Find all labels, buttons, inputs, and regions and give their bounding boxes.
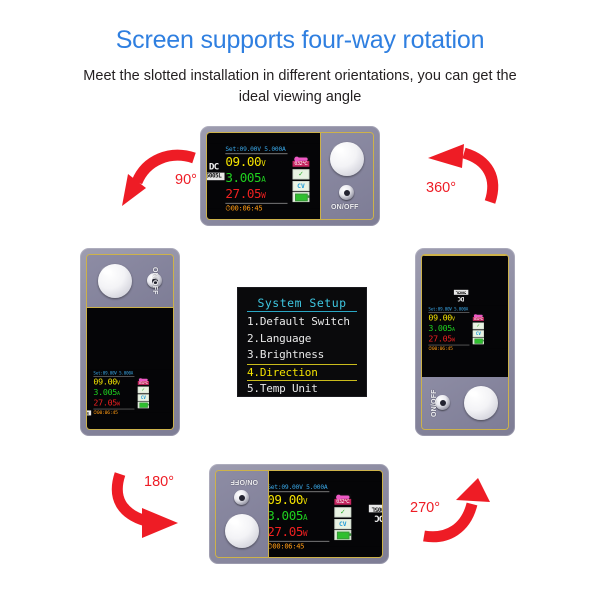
- power-value: 27.05: [269, 524, 303, 539]
- current-reading: 3.005A: [225, 171, 291, 187]
- device-logo: DC 5005L: [87, 410, 91, 422]
- check-icon: ✓: [334, 507, 351, 517]
- onoff-label: ON/OFF: [230, 478, 258, 485]
- cv-mode-icon: CV: [334, 519, 351, 529]
- current-value: 3.005: [93, 387, 117, 397]
- voltage-reading: 09.00V: [269, 493, 332, 509]
- page-subtitle: Meet the slotted installation in differe…: [70, 66, 530, 108]
- voltage-unit: V: [303, 498, 307, 506]
- device-left-screen-rotation: DC 5005L Set:09.00V 5.000A 09.00V: [88, 369, 172, 412]
- cv-mode-icon: CV: [473, 330, 484, 337]
- readout-panel: Set:09.00V 5.000A 09.00V 3.005A: [269, 483, 366, 545]
- rotation-arrow-360-label: 360°: [426, 180, 456, 196]
- readout-body: 09.00V 3.005A 27.05W ⏱00:06:45: [428, 313, 506, 352]
- readout: DC 5005L Set:09.00V 5.000A 09.00V: [269, 481, 382, 547]
- status-icon-column: 032℃ ✓ CV: [292, 155, 309, 214]
- timer-reading: ⏱00:06:45: [269, 543, 332, 552]
- power-reading: 27.05W: [225, 187, 291, 203]
- setpoint-text: Set:09.00V 5.000A: [269, 483, 366, 491]
- readout-body: 09.00V 3.005A 27.05W ⏱00:06:45: [225, 155, 320, 214]
- check-glyph: ✓: [298, 171, 303, 179]
- onoff-button[interactable]: [234, 490, 249, 505]
- device-logo: DC 5005L: [207, 162, 224, 180]
- logo-model: 5005L: [87, 410, 91, 415]
- logo-model: 5005L: [207, 173, 224, 181]
- device-bottom-screen: DC 5005L Set:09.00V 5.000A 09.00V: [269, 471, 382, 557]
- menu-item-brightness[interactable]: 3.Brightness: [247, 347, 357, 364]
- logo-model: 5005L: [454, 289, 468, 294]
- rotation-arrow-360: 360°: [420, 144, 500, 206]
- thermometer-icon: 032℃: [138, 377, 149, 385]
- timer-value: 00:06:45: [230, 205, 262, 213]
- timer-reading: ⏱00:06:45: [93, 409, 136, 415]
- readout-panel: Set:09.00V 5.000A 09.00V 3.005A: [225, 145, 320, 207]
- voltage-unit: V: [261, 160, 265, 168]
- onoff-label: ON/OFF: [151, 267, 158, 295]
- check-glyph: ✓: [142, 387, 145, 392]
- timer-value: 00:06:45: [272, 543, 304, 551]
- power-value: 27.05: [225, 186, 261, 201]
- current-value: 3.005: [428, 323, 452, 333]
- device-logo: DC 5005L: [368, 505, 382, 523]
- thermometer-glyph: [294, 158, 307, 161]
- voltage-unit: V: [452, 316, 455, 322]
- voltage-value: 09.00: [93, 376, 117, 386]
- device-right-knob-panel: ON/OFF: [422, 377, 508, 429]
- power-reading: 27.05W: [93, 398, 136, 409]
- device-right-inner: ON/OFF DC 5005L Set:09.00V 5.000A: [421, 254, 509, 430]
- check-icon: ✓: [473, 322, 484, 329]
- onoff-button[interactable]: [339, 185, 354, 200]
- battery-icon: [473, 337, 484, 344]
- device-logo: DC 5005L: [454, 289, 468, 301]
- rotation-arrow-270: 270°: [408, 478, 492, 542]
- status-icon-column: 032℃ ✓ CV: [138, 377, 149, 416]
- battery-icon: [292, 192, 309, 202]
- rotary-encoder-knob[interactable]: [225, 514, 259, 548]
- menu-item-language[interactable]: 2.Language: [247, 331, 357, 348]
- timer-reading: ⏱00:06:45: [225, 205, 291, 214]
- power-unit: W: [452, 337, 455, 343]
- cv-mode-icon: CV: [292, 181, 309, 191]
- device-left-inner: ON/OFF DC 5005L Set:09.00V 5.000A: [86, 254, 174, 430]
- current-reading: 3.005A: [93, 387, 136, 398]
- thermometer-glyph: [336, 496, 349, 499]
- cv-mode-label: CV: [476, 331, 481, 335]
- cv-mode-icon: CV: [138, 394, 149, 401]
- power-unit: W: [117, 401, 120, 407]
- current-value: 3.005: [269, 508, 303, 523]
- temperature-value: 032℃: [292, 161, 309, 167]
- device-left-knob-panel: ON/OFF: [87, 255, 173, 307]
- voltage-reading: 09.00V: [225, 155, 291, 171]
- rotation-arrow-180: 180°: [112, 468, 196, 530]
- power-unit: W: [261, 192, 265, 200]
- readout: DC 5005L Set:09.00V 5.000A 09.00V: [207, 143, 320, 209]
- device-top-screen-rotation: DC 5005L Set:09.00V 5.000A 09.00V: [207, 143, 320, 209]
- voltage-reading: 09.00V: [428, 313, 471, 324]
- battery-glyph: [139, 402, 147, 407]
- device-top-screen: DC 5005L Set:09.00V 5.000A 09.00V: [207, 133, 320, 219]
- battery-glyph: [474, 338, 482, 343]
- thermometer-icon: 032℃: [292, 156, 309, 169]
- current-reading: 3.005A: [428, 323, 471, 334]
- page-title: Screen supports four-way rotation: [0, 26, 600, 55]
- logo-brand: DC: [207, 162, 224, 171]
- current-unit: A: [261, 176, 265, 184]
- timer-value: 00:06:45: [97, 409, 118, 415]
- timer-value: 00:06:45: [432, 345, 453, 351]
- power-value: 27.05: [93, 397, 117, 407]
- setpoint-text: Set:09.00V 5.000A: [93, 370, 171, 375]
- voltage-value: 09.00: [269, 492, 303, 507]
- measurement-values: 09.00V 3.005A 27.05W ⏱00:06:45: [93, 377, 136, 416]
- device-right-screen: DC 5005L Set:09.00V 5.000A 09.00V: [422, 255, 508, 377]
- device-bottom-screen-rotation: DC 5005L Set:09.00V 5.000A 09.00V: [269, 481, 382, 547]
- device-top-inner: DC 5005L Set:09.00V 5.000A 09.00V: [206, 132, 374, 220]
- readout-panel: Set:09.00V 5.000A 09.00V 3.005A: [428, 306, 506, 347]
- device-left-screen: DC 5005L Set:09.00V 5.000A 09.00V: [87, 307, 173, 429]
- thermometer-glyph: [139, 378, 147, 380]
- current-reading: 3.005A: [269, 509, 332, 525]
- voltage-unit: V: [117, 380, 120, 386]
- thermometer-icon: 032℃: [473, 313, 484, 321]
- rotation-arrow-90: 90°: [120, 148, 200, 210]
- logo-brand: DC: [368, 514, 382, 523]
- measurement-values: 09.00V 3.005A 27.05W ⏱00:06:45: [428, 313, 471, 352]
- system-setup-menu: System Setup 1.Default Switch 2.Language…: [238, 288, 366, 396]
- status-icon-column: 032℃ ✓ CV: [473, 313, 484, 352]
- power-value: 27.05: [428, 333, 452, 343]
- power-unit: W: [303, 530, 307, 538]
- measurement-values: 09.00V 3.005A 27.05W ⏱00:06:45: [269, 493, 332, 552]
- menu-title: System Setup: [247, 296, 357, 312]
- rotation-arrow-180-label: 180°: [144, 474, 174, 490]
- check-icon: ✓: [138, 386, 149, 393]
- rotation-arrow-90-label: 90°: [175, 172, 197, 188]
- current-unit: A: [303, 514, 307, 522]
- setpoint-text: Set:09.00V 5.000A: [428, 306, 506, 311]
- power-reading: 27.05W: [428, 334, 471, 345]
- readout: DC 5005L Set:09.00V 5.000A 09.00V: [88, 369, 172, 412]
- device-bottom-inner: DC 5005L Set:09.00V 5.000A 09.00V: [215, 470, 383, 558]
- onoff-label: ON/OFF: [331, 204, 359, 211]
- device-right-screen-rotation: DC 5005L Set:09.00V 5.000A 09.00V: [423, 305, 507, 348]
- device-bottom-knob-panel: ON/OFF: [216, 471, 269, 557]
- rotary-encoder-knob[interactable]: [330, 142, 364, 176]
- rotary-encoder-knob[interactable]: [464, 386, 498, 420]
- timer-reading: ⏱00:06:45: [428, 345, 471, 351]
- check-icon: ✓: [292, 169, 309, 179]
- thermometer-icon: 032℃: [334, 494, 351, 507]
- rotation-arrow-270-label: 270°: [410, 500, 440, 516]
- readout-body: 09.00V 3.005A 27.05W ⏱00:06:45: [269, 493, 366, 552]
- menu-item-default-switch[interactable]: 1.Default Switch: [247, 314, 357, 331]
- power-reading: 27.05W: [269, 525, 332, 541]
- voltage-reading: 09.00V: [93, 377, 136, 388]
- voltage-value: 09.00: [428, 312, 452, 322]
- check-glyph: ✓: [340, 509, 345, 517]
- current-unit: A: [452, 326, 455, 332]
- battery-glyph: [294, 193, 307, 201]
- voltage-value: 09.00: [225, 154, 261, 169]
- thermometer-glyph: [474, 314, 482, 316]
- status-icon-column: 032℃ ✓ CV: [334, 493, 351, 552]
- battery-glyph: [336, 531, 349, 539]
- battery-icon: [334, 530, 351, 540]
- setpoint-text: Set:09.00V 5.000A: [225, 145, 320, 153]
- logo-brand: DC: [454, 295, 468, 301]
- menu-item-direction[interactable]: 4.Direction: [247, 364, 357, 381]
- current-value: 3.005: [225, 170, 261, 185]
- readout-panel: Set:09.00V 5.000A 09.00V 3.005A: [93, 370, 171, 411]
- cv-mode-label: CV: [141, 395, 146, 399]
- rotary-encoder-knob[interactable]: [98, 264, 132, 298]
- device-right: ON/OFF DC 5005L Set:09.00V 5.000A: [415, 248, 515, 436]
- device-top: DC 5005L Set:09.00V 5.000A 09.00V: [200, 126, 380, 226]
- device-bottom: DC 5005L Set:09.00V 5.000A 09.00V: [209, 464, 389, 564]
- measurement-values: 09.00V 3.005A 27.05W ⏱00:06:45: [225, 155, 291, 214]
- readout: DC 5005L Set:09.00V 5.000A 09.00V: [423, 305, 507, 348]
- battery-icon: [138, 401, 149, 408]
- logo-model: 5005L: [368, 505, 382, 513]
- menu-item-temp-unit[interactable]: 5.Temp Unit: [247, 381, 357, 398]
- device-top-knob-panel: ON/OFF: [320, 133, 373, 219]
- onoff-label: ON/OFF: [431, 389, 438, 417]
- temperature-value: 032℃: [334, 499, 351, 505]
- cv-mode-label: CV: [297, 182, 305, 189]
- readout-body: 09.00V 3.005A 27.05W ⏱00:06:45: [93, 377, 171, 416]
- current-unit: A: [117, 390, 120, 396]
- logo-brand: DC: [87, 416, 91, 422]
- device-left: ON/OFF DC 5005L Set:09.00V 5.000A: [80, 248, 180, 436]
- check-glyph: ✓: [477, 323, 480, 328]
- cv-mode-label: CV: [339, 520, 347, 527]
